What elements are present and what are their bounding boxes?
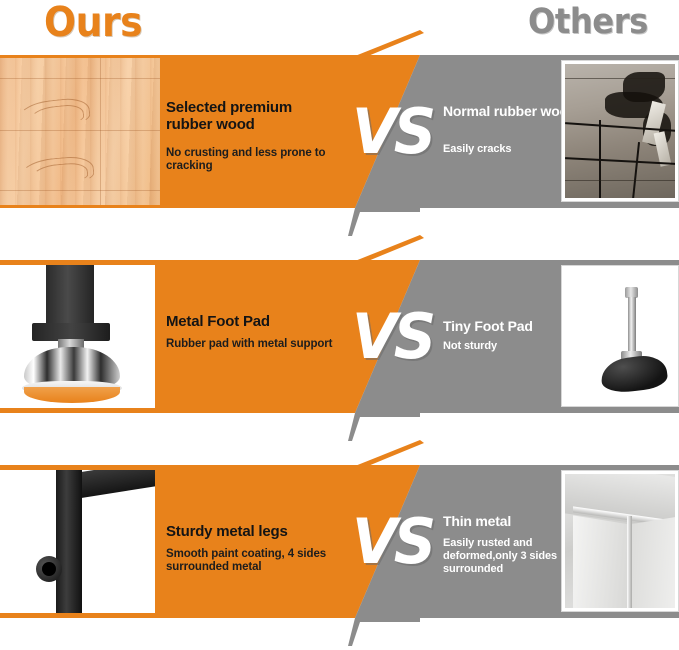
comparison-row-1: Selected premium rubber wood No crusting… <box>0 55 679 208</box>
ours-subtitle: Smooth paint coating, 4 sides surrounded… <box>166 548 346 574</box>
comparison-row-3: Sturdy metal legs Smooth paint coating, … <box>0 465 679 618</box>
tiny-foot-pad-photo <box>561 265 679 407</box>
ours-subtitle: Rubber pad with metal support <box>166 338 346 351</box>
metal-right-face <box>631 516 675 608</box>
ours-subtitle: No crusting and less prone to cracking <box>166 147 346 173</box>
wood-grain-line <box>0 78 160 79</box>
others-text-block: Normal rubber wood Easily cracks <box>443 55 578 208</box>
ours-text-block: Metal Foot Pad Rubber pad with metal sup… <box>166 260 341 413</box>
header-others-label: Others <box>528 2 648 42</box>
wood-grain-line <box>100 58 101 205</box>
crack-line <box>599 120 601 198</box>
ours-text-block: Sturdy metal legs Smooth paint coating, … <box>166 465 341 618</box>
gray-spike-down <box>330 208 420 236</box>
comparison-row-2: Metal Foot Pad Rubber pad with metal sup… <box>0 260 679 413</box>
vs-badge: VS <box>352 292 447 382</box>
wood-grain-line <box>0 190 160 191</box>
photo-inner <box>565 269 675 403</box>
vertical-metal-leg <box>56 470 82 613</box>
plank-seam <box>565 180 675 181</box>
gray-spike-down <box>330 618 420 646</box>
header-ours-label: Ours <box>44 0 142 46</box>
orange-spike-up <box>355 235 435 261</box>
table-leg-post <box>46 265 94 327</box>
ours-title: Selected premium rubber wood <box>166 99 341 133</box>
others-text-block: Tiny Foot Pad Not sturdy <box>443 260 578 413</box>
comparison-header: Ours Others <box>0 0 679 55</box>
black-pad-base <box>599 353 669 395</box>
wood-grain-line <box>0 130 160 131</box>
ours-title: Metal Foot Pad <box>166 313 341 330</box>
metal-foot-pad-photo <box>0 265 155 408</box>
vs-badge: VS <box>352 87 447 177</box>
premium-rubber-wood-photo <box>0 58 160 205</box>
gray-spike-down <box>330 413 420 441</box>
ours-text-block: Selected premium rubber wood No crusting… <box>166 55 341 208</box>
photo-inner <box>565 474 675 608</box>
cracked-wood-photo <box>561 60 679 202</box>
rubber-base <box>24 387 120 403</box>
sturdy-metal-legs-photo <box>0 470 155 613</box>
threaded-stem <box>628 297 636 353</box>
thin-metal-corner-photo <box>561 470 679 612</box>
metal-left-face <box>573 515 631 608</box>
photo-inner <box>565 64 675 198</box>
orange-spike-up <box>355 440 435 466</box>
vs-badge: VS <box>352 497 447 587</box>
adjustment-knob <box>36 556 62 582</box>
others-text-block: Thin metal Easily rusted and deformed,on… <box>443 465 578 618</box>
plank-seam <box>565 78 675 79</box>
thin-metal-surface <box>565 474 675 608</box>
tiny-pad-background <box>565 269 675 403</box>
ours-title: Sturdy metal legs <box>166 523 341 540</box>
metal-corner-seam <box>627 516 632 608</box>
